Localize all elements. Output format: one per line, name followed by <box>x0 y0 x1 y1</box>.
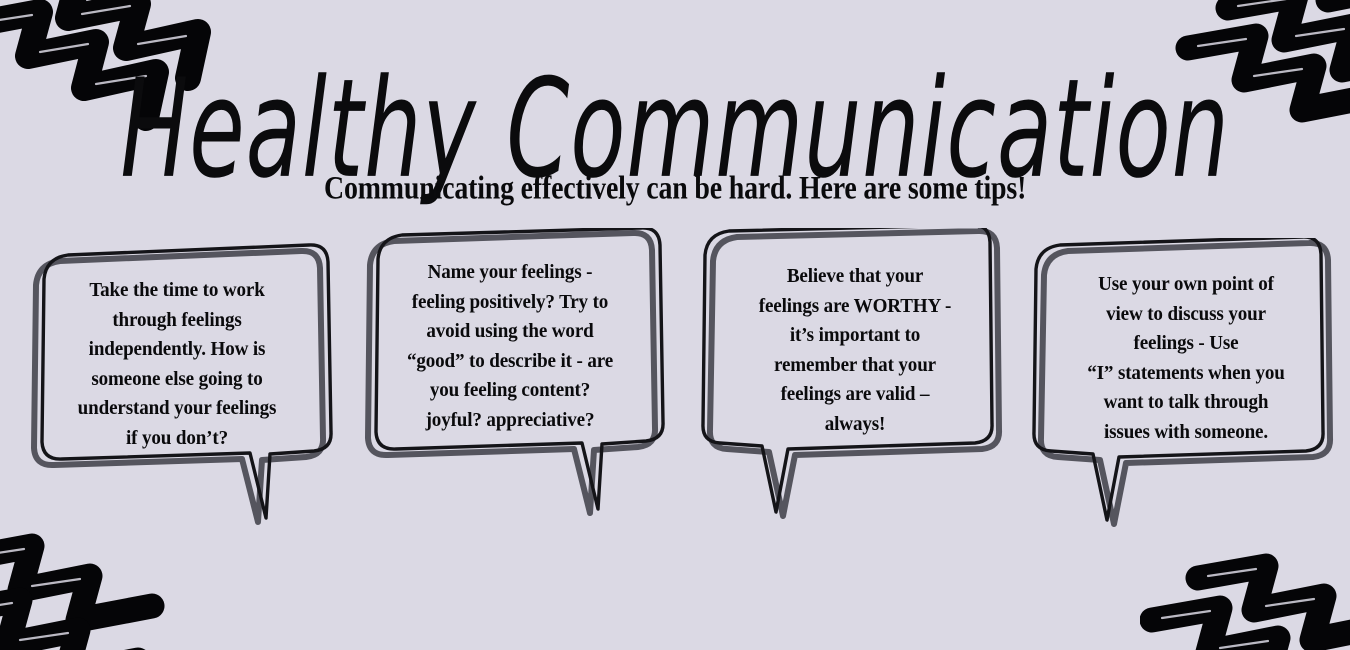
tip-line: it’s important to <box>727 321 984 351</box>
tip-line: “good” to describe it - are <box>384 347 637 377</box>
page-subtitle: Communicating effectively can be hard. H… <box>0 168 1350 208</box>
tip-line: avoid using the word <box>384 317 637 347</box>
tip-line: through feelings <box>48 306 307 336</box>
tip-line: feelings are WORTHY - <box>727 292 984 322</box>
tip-line: you feeling content? <box>384 376 637 406</box>
tip-line: view to discuss your <box>1058 300 1315 330</box>
tip-bubble-3-text: Believe that your feelings are WORTHY - … <box>727 262 984 440</box>
tip-line: always! <box>727 410 984 440</box>
tip-line: remember that your <box>727 351 984 381</box>
tip-line: Use your own point of <box>1058 270 1315 300</box>
zigzag-brush-bottom-left-icon <box>0 528 216 650</box>
tip-line: feelings - Use <box>1058 329 1315 359</box>
tip-line: feelings are valid – <box>727 380 984 410</box>
page-subtitle-text: Communicating effectively can be hard. H… <box>324 167 1026 209</box>
tip-line: Take the time to work <box>48 276 307 306</box>
tip-line: joyful? appreciative? <box>384 406 637 436</box>
tip-line: understand your feelings <box>48 394 307 424</box>
tip-bubble-4-text: Use your own point of view to discuss yo… <box>1058 270 1315 448</box>
tip-line: Name your feelings - <box>384 258 637 288</box>
tip-line: if you don’t? <box>48 424 307 454</box>
zigzag-brush-bottom-right-icon <box>1140 538 1350 650</box>
tip-bubble-1-text: Take the time to work through feelings i… <box>48 276 307 454</box>
tip-line: feeling positively? Try to <box>384 288 637 318</box>
tip-line: someone else going to <box>48 365 307 395</box>
tip-line: want to talk through <box>1058 388 1315 418</box>
tip-bubble-2-text: Name your feelings - feeling positively?… <box>384 258 637 436</box>
tip-line: Believe that your <box>727 262 984 292</box>
tip-line: “I” statements when you <box>1058 359 1315 389</box>
tip-line: issues with someone. <box>1058 418 1315 448</box>
poster-canvas: Healthy Communication Communicating effe… <box>0 0 1350 650</box>
tip-line: independently. How is <box>48 335 307 365</box>
